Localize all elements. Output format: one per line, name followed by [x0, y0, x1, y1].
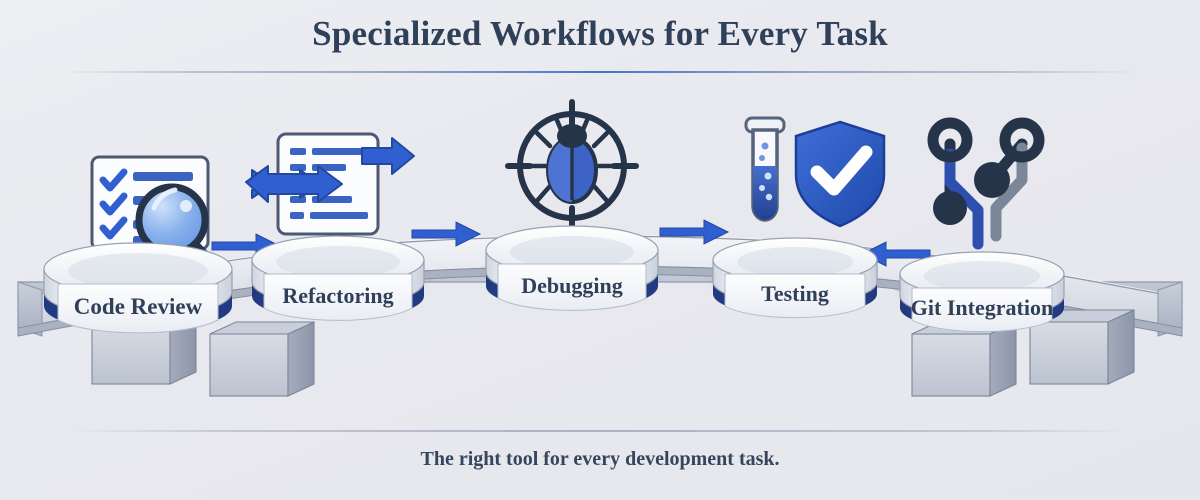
pedestal-label: Git Integration — [911, 295, 1053, 320]
pedestal-testing[interactable]: Testing — [703, 118, 887, 318]
pedestal-label: Debugging — [521, 273, 622, 298]
footer-divider — [70, 430, 1130, 432]
pedestal-debugging[interactable]: Debugging — [476, 102, 668, 310]
test-tube-shield-check-icon — [746, 118, 884, 226]
code-swap-arrows-icon — [246, 134, 414, 234]
title-divider — [60, 71, 1140, 73]
page-title: Specialized Workflows for Every Task — [0, 14, 1200, 54]
pedestal-code-review[interactable]: Code Review — [34, 157, 242, 333]
pedestal-label: Refactoring — [282, 283, 393, 308]
pedestal-label: Testing — [761, 281, 829, 306]
footer-caption: The right tool for every development tas… — [0, 448, 1200, 471]
platform-leg — [912, 322, 1016, 396]
illustration-canvas: Specialized Workflows for Every Task — [0, 0, 1200, 500]
bug-crosshair-icon — [508, 102, 636, 230]
git-branch-graph-icon — [933, 123, 1039, 244]
workflow-diagram: Code Review — [0, 84, 1200, 414]
pedestal-git-integration[interactable]: Git Integration — [890, 123, 1074, 332]
pedestal-refactoring[interactable]: Refactoring — [242, 134, 434, 320]
pedestal-label: Code Review — [74, 294, 203, 319]
platform-leg — [210, 322, 314, 396]
